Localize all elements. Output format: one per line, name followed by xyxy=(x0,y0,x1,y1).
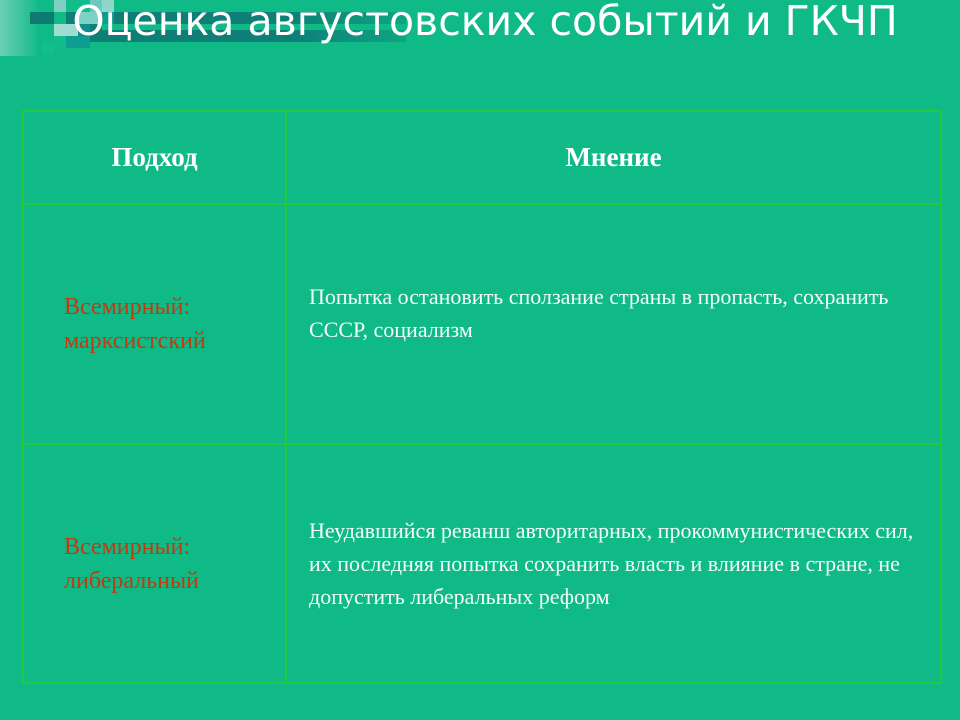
opinion-cell-liberal: Неудавшийся реванш авторитарных, прокомм… xyxy=(286,444,941,683)
column-header-opinion: Мнение xyxy=(286,111,941,204)
column-header-approach: Подход xyxy=(23,111,286,204)
approach-cell-liberal: Всемирный: либеральный xyxy=(23,444,286,683)
table-row: Всемирный: марксистский Попытка останови… xyxy=(23,204,941,444)
opinion-cell-marxist: Попытка остановить сползание страны в пр… xyxy=(286,204,941,444)
decoration-square xyxy=(42,42,54,54)
approach-cell-marxist: Всемирный: марксистский xyxy=(23,204,286,444)
table-row: Всемирный: либеральный Неудавшийся реван… xyxy=(23,444,941,683)
approaches-opinions-table: Подход Мнение Всемирный: марксистский По… xyxy=(22,110,942,684)
slide-title: Оценка августовских событий и ГКЧП xyxy=(60,0,910,44)
slide-canvas: Оценка августовских событий и ГКЧП Подхо… xyxy=(0,0,960,720)
content-table-wrapper: Подход Мнение Всемирный: марксистский По… xyxy=(22,110,940,682)
decoration-left-fade xyxy=(0,0,40,56)
decoration-square xyxy=(30,12,42,24)
decoration-square xyxy=(42,12,54,24)
table-header-row: Подход Мнение xyxy=(23,111,941,204)
